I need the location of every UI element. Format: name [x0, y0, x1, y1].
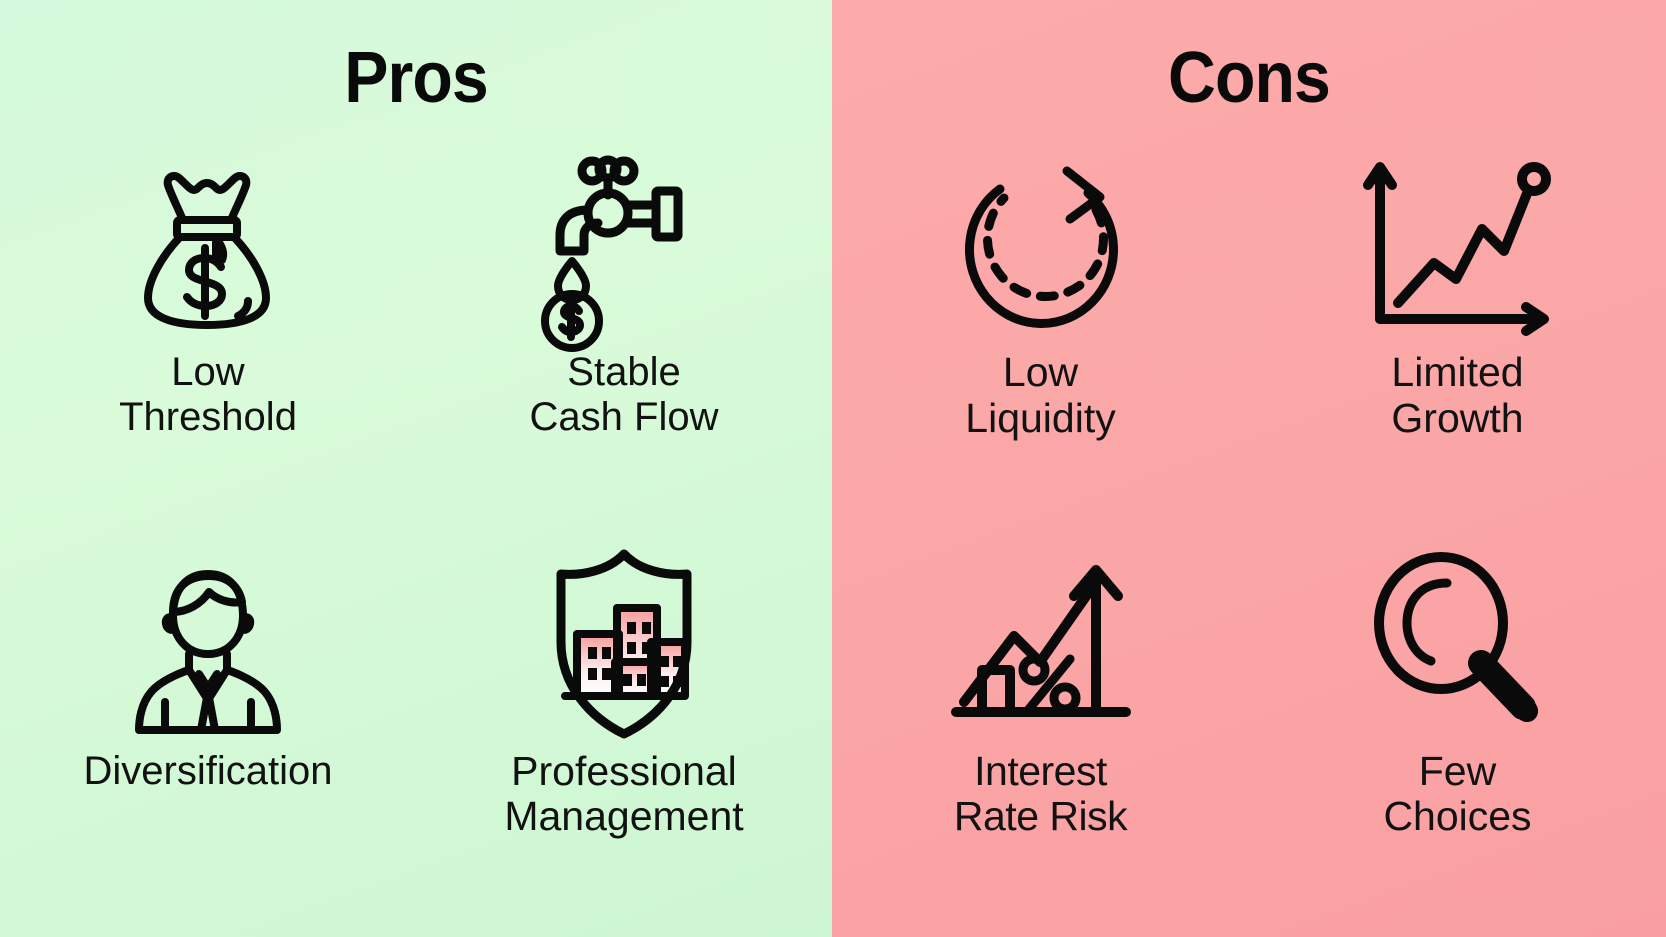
percent-rising-chart-icon	[948, 549, 1133, 739]
pros-grid: Low Threshold	[0, 140, 832, 937]
faucet-cash-flow-icon	[544, 150, 704, 340]
businessman-icon	[121, 549, 296, 739]
cons-item-few-choices: Few Choices	[1249, 539, 1666, 937]
cons-item-label: Interest Rate Risk	[954, 749, 1127, 841]
cons-item-label: Limited Growth	[1391, 350, 1523, 442]
cons-item-limited-growth: Limited Growth	[1249, 140, 1666, 539]
pros-panel: Pros	[0, 0, 832, 937]
pros-item-label: Low Threshold	[119, 350, 297, 440]
cons-panel: Cons Low Liquid	[832, 0, 1666, 937]
pros-title: Pros	[33, 0, 798, 114]
pros-item-stable-cash-flow: Stable Cash Flow	[416, 140, 832, 539]
cons-item-interest-rate-risk: Interest Rate Risk	[832, 539, 1249, 937]
pros-cons-infographic: Pros	[0, 0, 1666, 937]
shield-buildings-icon	[539, 549, 709, 739]
cons-title: Cons	[865, 0, 1632, 114]
cons-item-label: Low Liquidity	[965, 350, 1115, 442]
money-bag-icon	[132, 150, 282, 340]
pros-item-diversification: Diversification	[0, 539, 416, 937]
growth-chart-icon	[1358, 150, 1558, 340]
pros-item-label: Professional Management	[504, 749, 743, 841]
cons-item-label: Few Choices	[1383, 749, 1531, 841]
magnifying-glass-icon	[1365, 549, 1550, 739]
cons-grid: Low Liquidity	[832, 140, 1666, 937]
pros-item-professional-management: Professional Management	[416, 539, 832, 937]
pros-item-label: Diversification	[84, 749, 333, 794]
circular-arrow-icon	[948, 150, 1133, 340]
pros-item-label: Stable Cash Flow	[530, 350, 719, 440]
pros-item-low-threshold: Low Threshold	[0, 140, 416, 539]
cons-item-low-liquidity: Low Liquidity	[832, 140, 1249, 539]
